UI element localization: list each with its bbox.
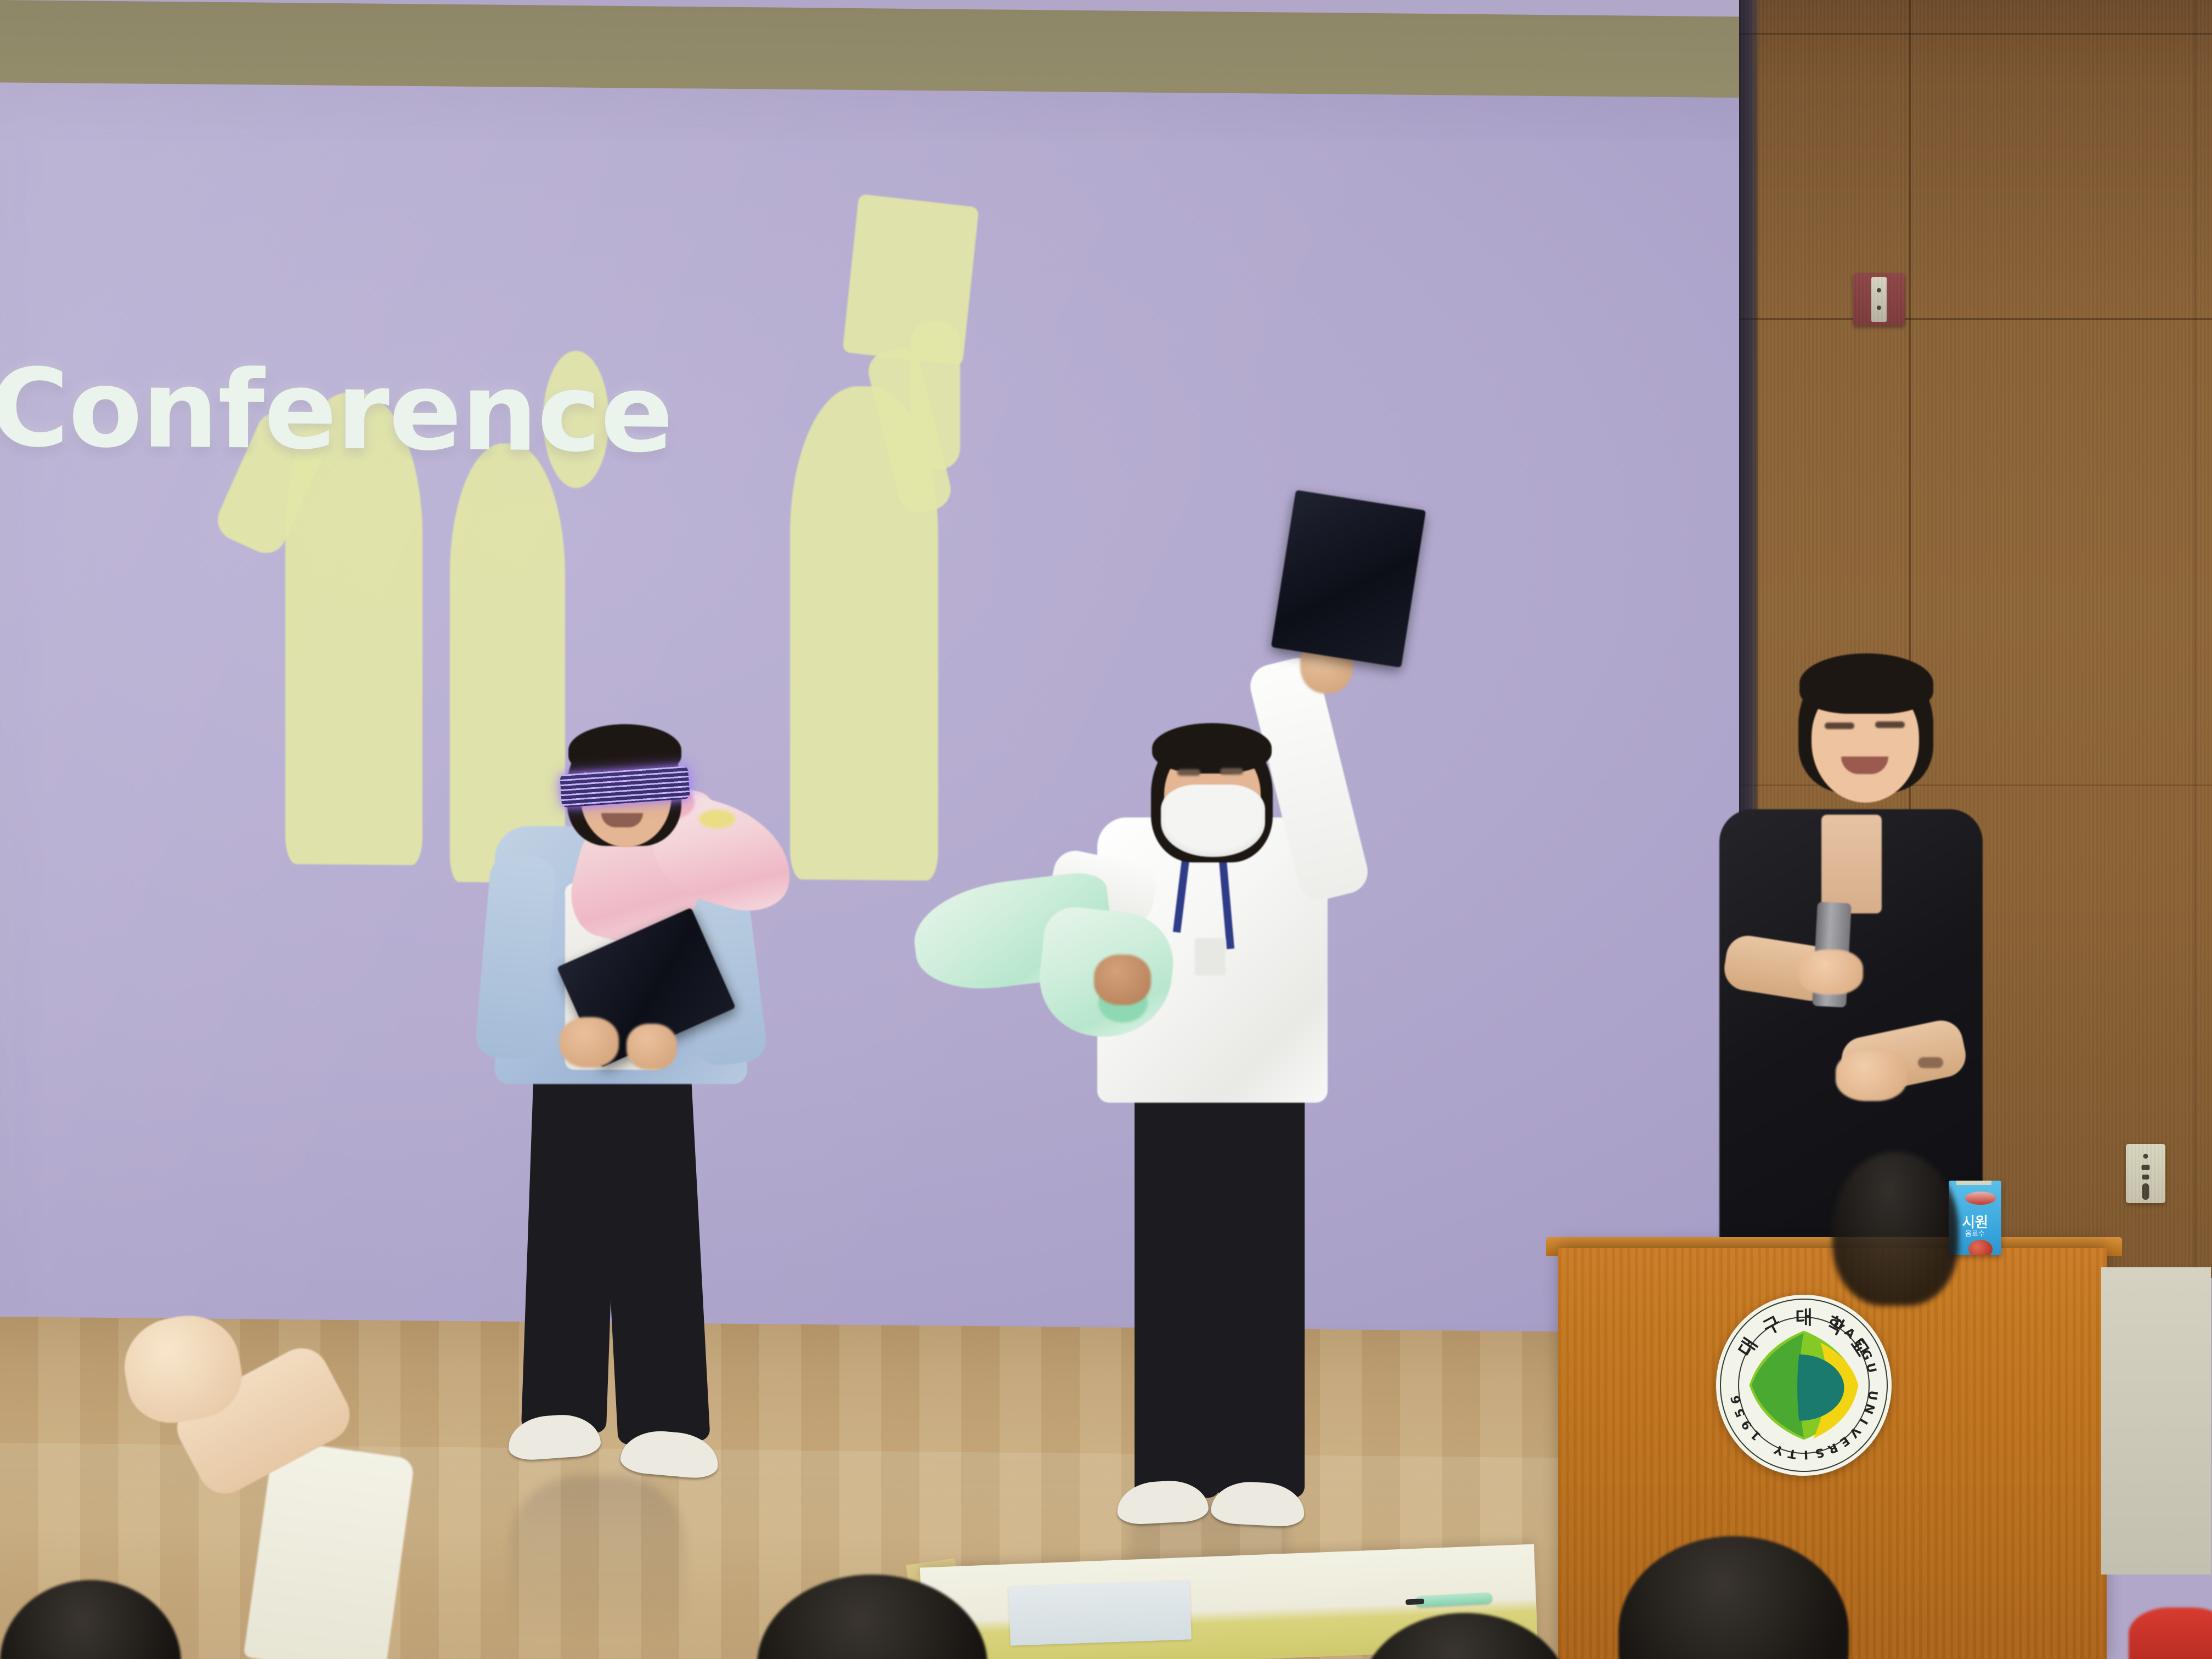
left-recipient-hand xyxy=(627,1024,677,1070)
audience-red-garment xyxy=(2129,1607,2212,1659)
slide-title: Conference xyxy=(0,346,673,477)
fire-alarm-strip xyxy=(1871,277,1887,323)
right-recipient-badge xyxy=(1195,938,1226,975)
host-eye xyxy=(1825,723,1854,729)
person-recipient-left xyxy=(483,719,790,1509)
projection-screen: Conference 8 xyxy=(0,82,1816,1376)
fire-alarm-icon xyxy=(1853,273,1905,326)
emblem-english-text: DAEGU UNIVERSITY 1956 xyxy=(1716,1295,1892,1476)
host-bracelet xyxy=(1918,1057,1943,1068)
right-recipient-leg xyxy=(1217,1064,1305,1498)
left-recipient-bouquet-accent xyxy=(699,810,735,828)
wood-seam-vertical xyxy=(2194,0,2196,1278)
slide-silhouette-4-arm xyxy=(911,321,960,470)
host-inner-top xyxy=(1821,815,1882,913)
right-recipient-eye xyxy=(1177,769,1200,776)
wood-seam-horizontal xyxy=(1739,33,2212,35)
host-hair-top xyxy=(1799,653,1933,714)
pen-clip xyxy=(1406,1599,1424,1605)
host-eye xyxy=(1875,721,1905,728)
wood-seam-horizontal xyxy=(1739,318,2212,320)
fire-alarm-dot xyxy=(1877,288,1881,292)
conference-photo: Conference 8 xyxy=(0,0,2212,1659)
podium-side-panel xyxy=(2101,1267,2211,1575)
host-hand xyxy=(1798,950,1863,995)
wall-outlet-icon xyxy=(2126,1144,2165,1203)
outlet-hole xyxy=(2142,1165,2150,1170)
outlet-hole xyxy=(2142,1175,2149,1180)
daegu-university-emblem: 대구대학교 DAEGU UNIVERSITY 1956 xyxy=(1716,1295,1892,1476)
carton-cap xyxy=(1956,1181,1991,1185)
right-recipient-hair-fringe xyxy=(1152,723,1272,774)
carton-logo-icon xyxy=(1965,1192,1996,1205)
right-recipient-raised-folder xyxy=(1271,490,1426,668)
person-host-emcee xyxy=(1701,645,1997,1265)
paper-sheet xyxy=(1008,1580,1192,1645)
right-recipient-hand xyxy=(1094,955,1151,1005)
outlet-hole xyxy=(2143,1154,2148,1159)
left-recipient-hand xyxy=(560,1017,619,1068)
carton-berry-icon xyxy=(1968,1240,1993,1255)
host-hand xyxy=(1836,1051,1907,1101)
outlet-hole xyxy=(2142,1183,2149,1200)
face-mask-icon xyxy=(1161,785,1265,857)
fire-alarm-dot xyxy=(1877,306,1881,310)
right-recipient-eye xyxy=(1220,768,1243,775)
audience-head xyxy=(1832,1152,1959,1306)
left-recipient-leg xyxy=(597,1046,710,1445)
right-recipient-leg xyxy=(1135,1064,1220,1498)
person-recipient-right xyxy=(1070,576,1421,1520)
